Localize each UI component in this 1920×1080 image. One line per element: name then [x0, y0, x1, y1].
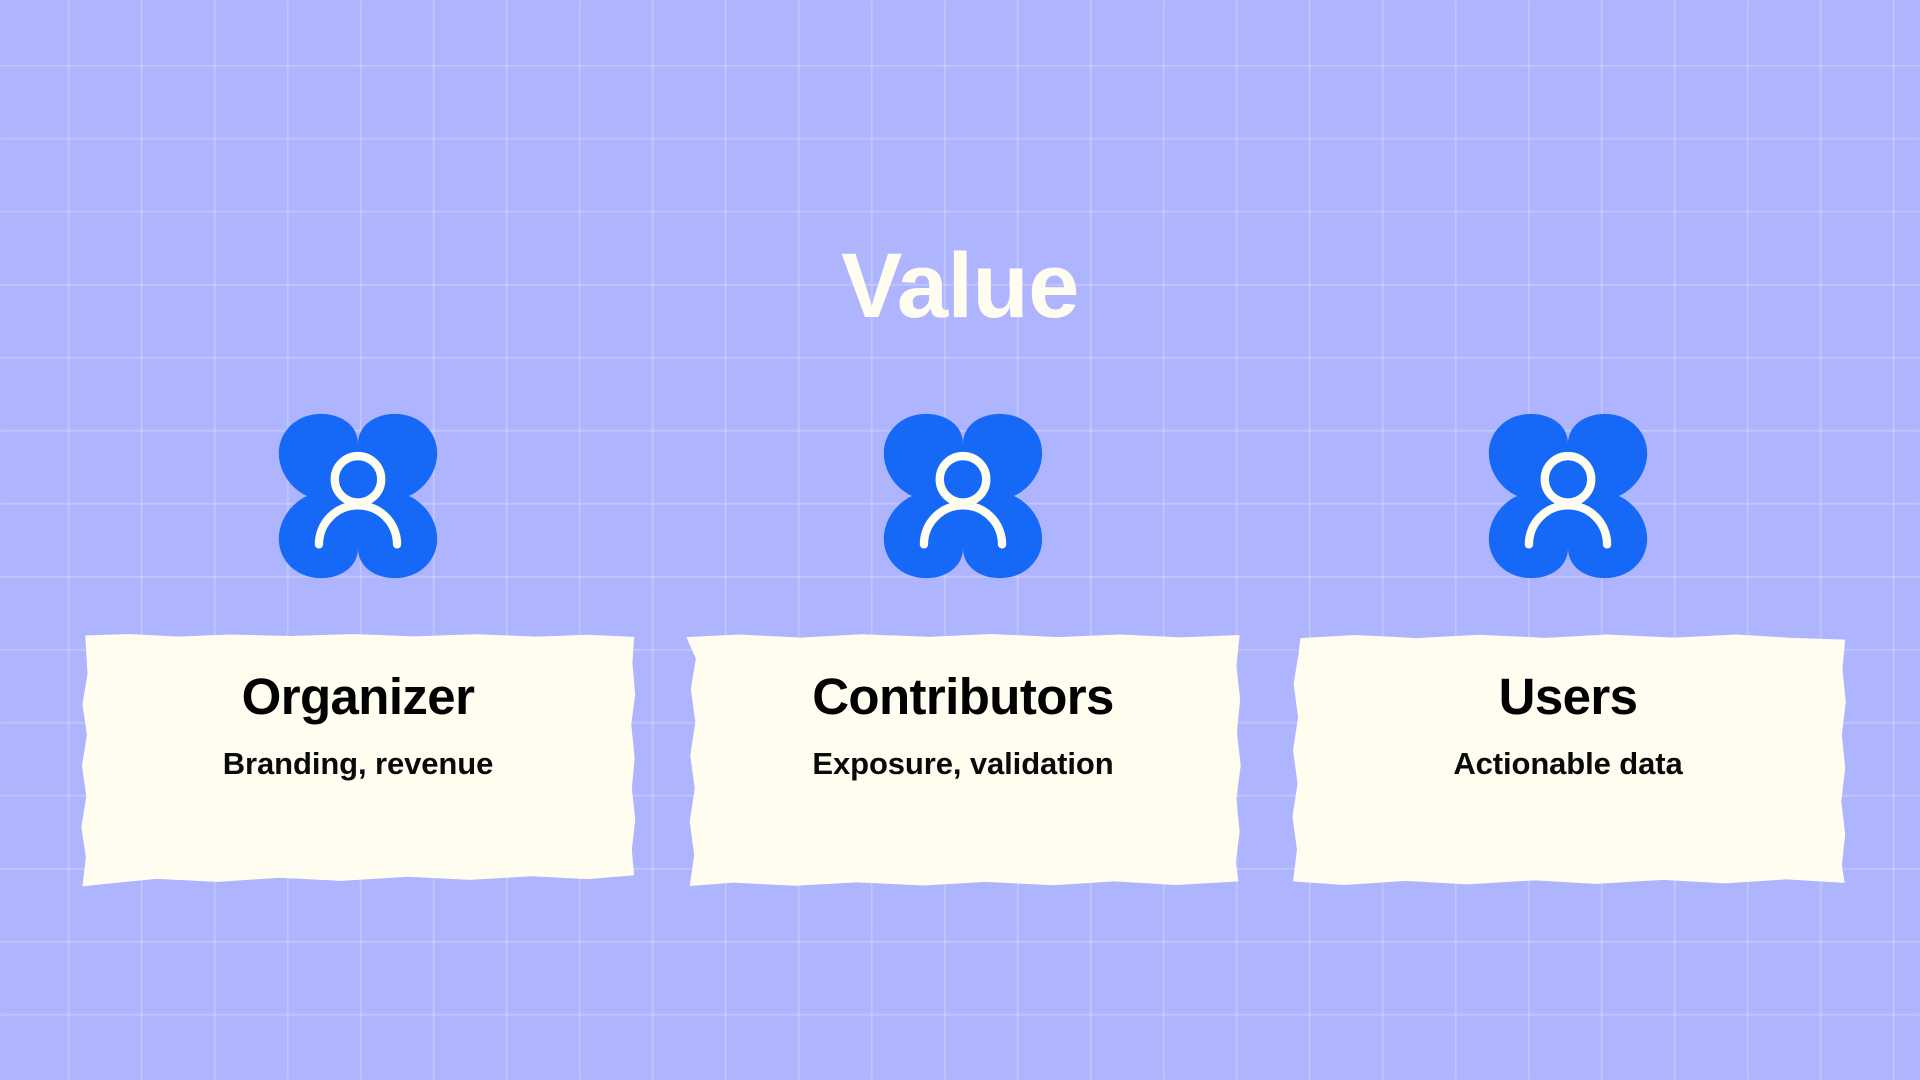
slide-canvas: Value Organizer Branding, revenue — [0, 0, 1920, 1080]
value-card-subtitle: Actionable data — [1453, 746, 1682, 782]
value-card: Users Actionable data — [1288, 633, 1848, 888]
person-icon — [870, 403, 1056, 589]
value-column-contributors: Contributors Exposure, validation — [683, 0, 1243, 1080]
person-icon — [1475, 403, 1661, 589]
value-card-subtitle: Exposure, validation — [812, 746, 1113, 782]
value-card-content: Organizer Branding, revenue — [78, 633, 638, 888]
value-column-users: Users Actionable data — [1288, 0, 1848, 1080]
value-card-content: Contributors Exposure, validation — [683, 633, 1243, 888]
value-card-subtitle: Branding, revenue — [223, 746, 493, 782]
value-card: Contributors Exposure, validation — [683, 633, 1243, 888]
value-card: Organizer Branding, revenue — [78, 633, 638, 888]
value-card-title: Organizer — [242, 670, 475, 724]
value-column-organizer: Organizer Branding, revenue — [78, 0, 638, 1080]
value-card-content: Users Actionable data — [1288, 633, 1848, 888]
value-columns: Organizer Branding, revenue Contributors… — [0, 0, 1920, 1080]
person-icon — [265, 403, 451, 589]
value-card-title: Users — [1499, 670, 1638, 724]
value-card-title: Contributors — [812, 670, 1114, 724]
